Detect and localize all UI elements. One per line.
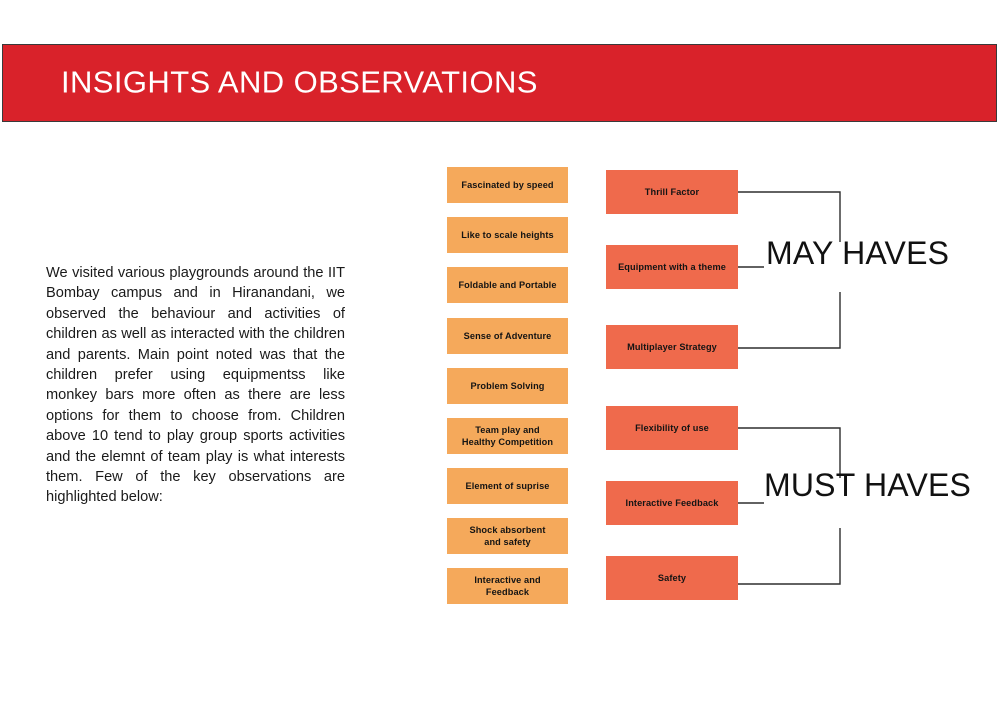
requirement-label: Safety xyxy=(658,572,686,584)
observation-box[interactable]: Problem Solving xyxy=(447,368,568,404)
observation-label: Interactive andFeedback xyxy=(474,574,540,598)
observation-box[interactable]: Fascinated by speed xyxy=(447,167,568,203)
observation-box[interactable]: Interactive andFeedback xyxy=(447,568,568,604)
observation-box[interactable]: Sense of Adventure xyxy=(447,318,568,354)
bracket-must-haves xyxy=(736,422,846,602)
requirement-label: Thrill Factor xyxy=(645,186,699,198)
observation-label: Foldable and Portable xyxy=(458,279,556,291)
requirement-box[interactable]: Interactive Feedback xyxy=(606,481,738,525)
requirement-box[interactable]: Multiplayer Strategy xyxy=(606,325,738,369)
intro-paragraph: We visited various playgrounds around th… xyxy=(46,263,345,508)
observation-box[interactable]: Foldable and Portable xyxy=(447,267,568,303)
header-banner: INSIGHTS AND OBSERVATIONS xyxy=(2,44,997,122)
requirement-label: Interactive Feedback xyxy=(626,497,719,509)
group-label-must-haves: MUST HAVES xyxy=(764,467,971,504)
requirement-label: Equipment with a theme xyxy=(618,261,726,273)
observation-label: Fascinated by speed xyxy=(461,179,553,191)
requirement-label: Flexibility of use xyxy=(635,422,709,434)
requirement-box[interactable]: Safety xyxy=(606,556,738,600)
observation-label: Like to scale heights xyxy=(461,229,553,241)
bracket-may-haves xyxy=(736,186,846,366)
group-label-may-haves: MAY HAVES xyxy=(766,235,949,272)
observation-label: Sense of Adventure xyxy=(464,330,552,342)
page-title: INSIGHTS AND OBSERVATIONS xyxy=(61,64,538,100)
observation-label: Shock absorbentand safety xyxy=(469,524,545,548)
observation-label: Element of suprise xyxy=(466,480,550,492)
bracket-bottom-arm xyxy=(738,528,840,584)
requirement-box[interactable]: Equipment with a theme xyxy=(606,245,738,289)
observation-label: Team play andHealthy Competition xyxy=(462,424,553,448)
requirement-label: Multiplayer Strategy xyxy=(627,341,717,353)
observation-box[interactable]: Like to scale heights xyxy=(447,217,568,253)
requirement-box[interactable]: Flexibility of use xyxy=(606,406,738,450)
requirement-box[interactable]: Thrill Factor xyxy=(606,170,738,214)
observation-box[interactable]: Shock absorbentand safety xyxy=(447,518,568,554)
bracket-bottom-arm xyxy=(738,292,840,348)
observation-label: Problem Solving xyxy=(471,380,545,392)
observation-box[interactable]: Team play andHealthy Competition xyxy=(447,418,568,454)
observation-box[interactable]: Element of suprise xyxy=(447,468,568,504)
